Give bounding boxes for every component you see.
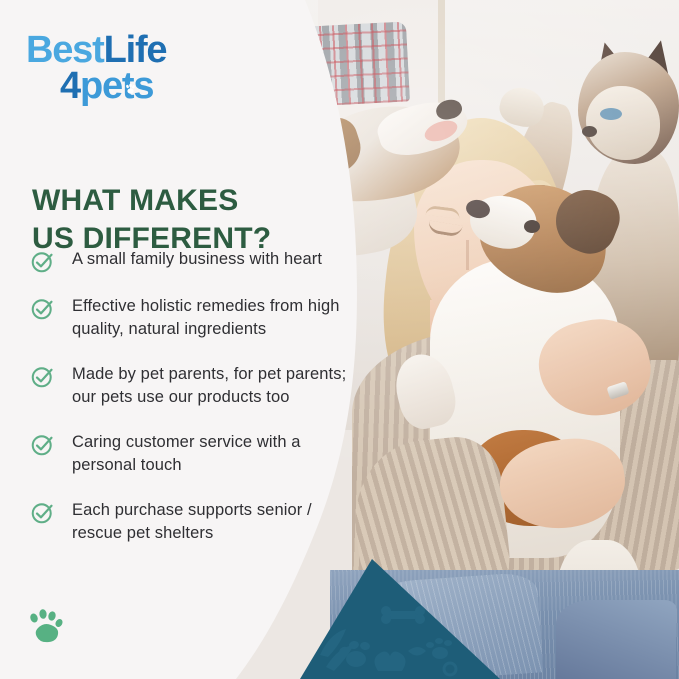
page-title: WHAT MAKES US DIFFERENT? bbox=[32, 182, 271, 257]
logo-line-two: 4pets bbox=[60, 69, 166, 105]
check-circle-icon bbox=[30, 432, 55, 457]
check-circle-icon bbox=[30, 249, 55, 274]
check-circle-icon bbox=[30, 500, 55, 525]
benefit-text: Effective holistic remedies from high qu… bbox=[72, 295, 358, 342]
list-item: Made by pet parents, for pet parents; ou… bbox=[30, 363, 360, 410]
benefit-text: Each purchase supports senior / rescue p… bbox=[72, 499, 358, 546]
benefit-text: Made by pet parents, for pet parents; ou… bbox=[72, 363, 358, 410]
benefit-text: Caring customer service with a personal … bbox=[72, 431, 358, 478]
brand-logo[interactable]: BestLife 4pets bbox=[26, 33, 166, 104]
headline-line-one: WHAT MAKES bbox=[32, 184, 238, 217]
cat-eye bbox=[600, 108, 622, 120]
list-item: Effective holistic remedies from high qu… bbox=[30, 295, 360, 342]
cat-face-mask bbox=[586, 86, 660, 160]
logo-text-pets: pets bbox=[80, 65, 153, 107]
cat-nose bbox=[582, 126, 597, 137]
list-item: Caring customer service with a personal … bbox=[30, 431, 360, 478]
marketing-image: BestLife 4pets WHAT MAKES US DIFFERENT? bbox=[0, 0, 679, 679]
list-item: Each purchase supports senior / rescue p… bbox=[30, 499, 360, 546]
paw-print-icon bbox=[26, 604, 66, 644]
benefit-text: A small family business with heart bbox=[72, 248, 322, 271]
dog-held-eye bbox=[524, 220, 540, 233]
logo-line-one: BestLife bbox=[26, 33, 166, 69]
woman-jeans-fold bbox=[556, 600, 676, 679]
check-circle-icon bbox=[30, 364, 55, 389]
benefits-list: A small family business with heart Effec… bbox=[30, 248, 360, 545]
check-circle-icon bbox=[30, 296, 55, 321]
list-item: A small family business with heart bbox=[30, 248, 360, 274]
logo-text-four: 4 bbox=[60, 65, 80, 107]
